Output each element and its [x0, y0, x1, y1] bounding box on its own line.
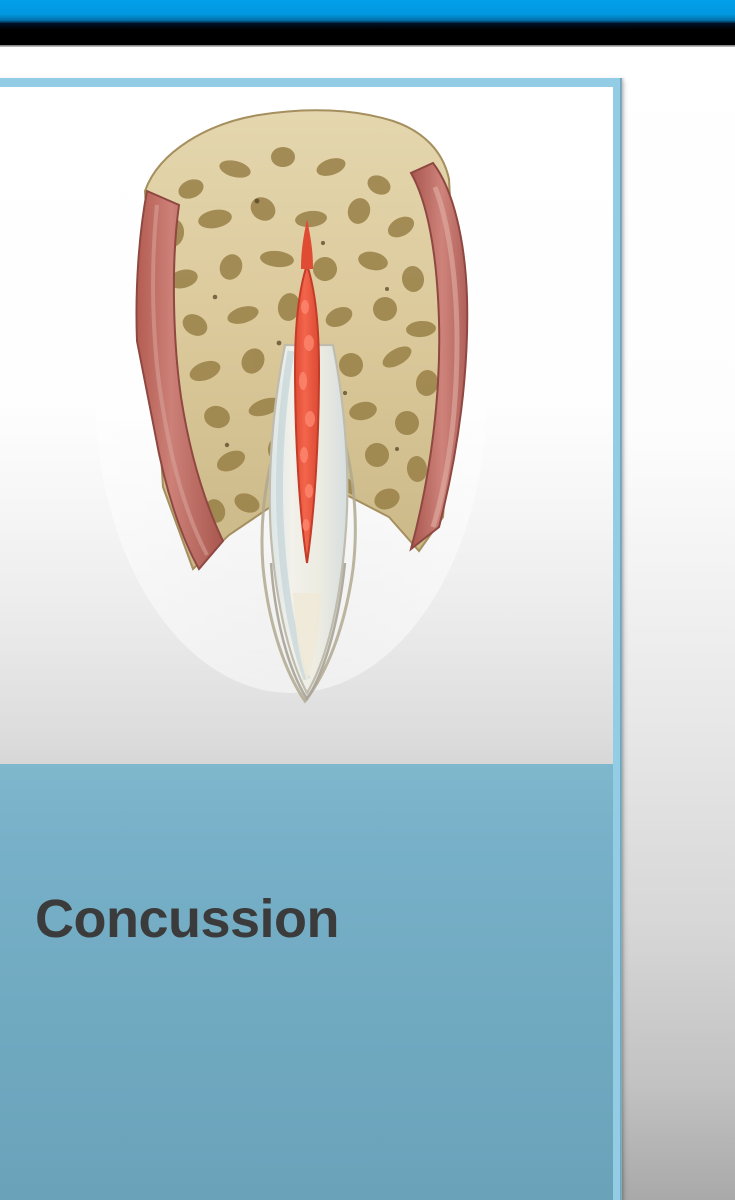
card-right-shadow [620, 78, 625, 1200]
browser-toolbar[interactable] [0, 23, 735, 45]
result-card[interactable]: Concussion [0, 78, 622, 1200]
card-caption-title: Concussion [35, 892, 339, 946]
card-caption-panel[interactable] [0, 764, 613, 1200]
card-image-panel[interactable] [0, 87, 613, 764]
app-chrome [0, 0, 735, 47]
page-right-gutter [622, 47, 735, 1200]
status-bar [0, 0, 735, 23]
tooth-cross-section-illustration [87, 93, 491, 721]
